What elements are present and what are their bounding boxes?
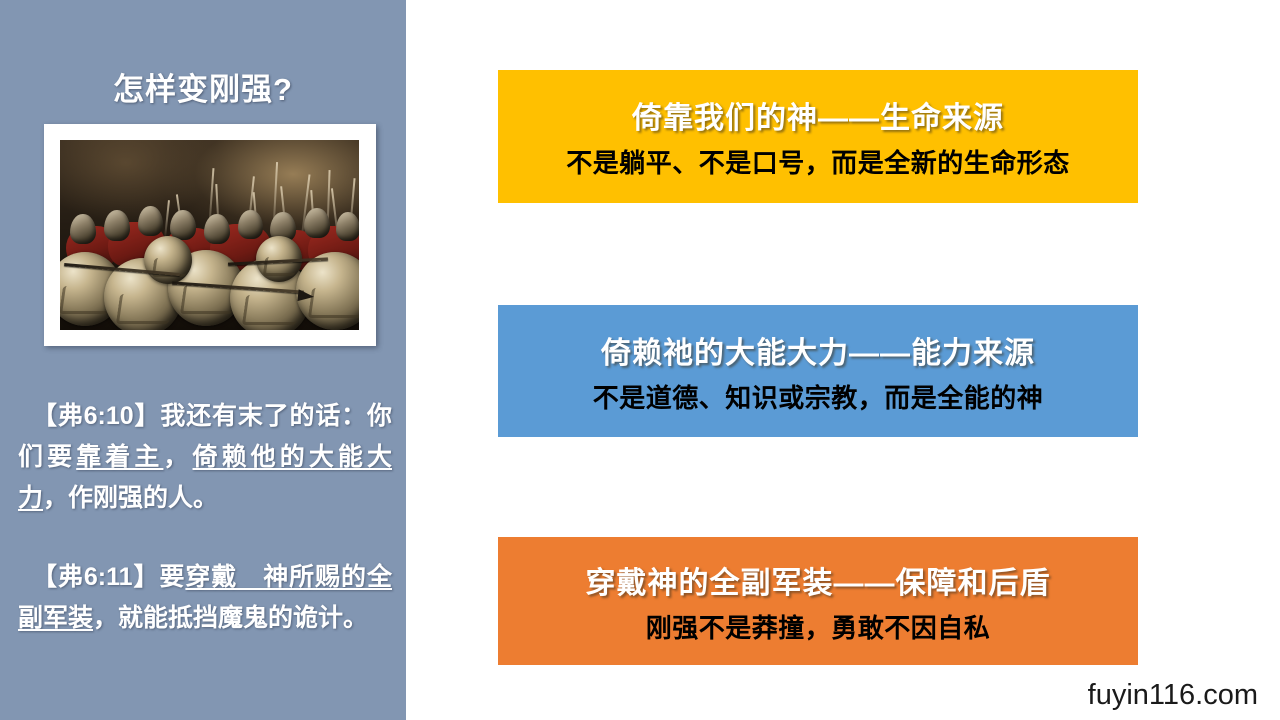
banner-orange-subline: 刚强不是莽撞，勇敢不因自私 bbox=[646, 608, 991, 645]
banner-yellow-subline: 不是躺平、不是口号，而是全新的生命形态 bbox=[566, 143, 1070, 180]
helmet-icon bbox=[104, 210, 130, 241]
scripture-2-part1: 要 bbox=[159, 563, 185, 591]
scripture-eph-6-10: 【弗6:10】我还有末了的话：你们要靠着主，倚赖他的大能大力，作刚强的人。 bbox=[18, 396, 392, 519]
banner-orange-headline: 穿戴神的全副军装——保障和后盾 bbox=[586, 558, 1051, 602]
scripture-eph-6-11: 【弗6:11】要穿戴 神所赐的全副军装，就能抵挡魔鬼的诡计。 bbox=[18, 557, 392, 639]
scripture-1-part3: ，作刚强的人。 bbox=[43, 484, 218, 512]
scripture-1-ref: 【弗6:10】 bbox=[18, 402, 160, 430]
scripture-2-ref: 【弗6:11】 bbox=[18, 563, 159, 591]
helmet-icon bbox=[138, 206, 163, 236]
helmet-icon bbox=[336, 212, 359, 241]
helmet-icon bbox=[170, 210, 196, 240]
banner-life-source: 倚靠我们的神——生命来源 不是躺平、不是口号，而是全新的生命形态 bbox=[498, 70, 1138, 203]
scripture-1-underline1: 靠着主 bbox=[76, 443, 163, 471]
photo-frame bbox=[44, 124, 376, 346]
helmet-icon bbox=[70, 214, 96, 244]
banner-blue-subline: 不是道德、知识或宗教，而是全能的神 bbox=[593, 378, 1044, 415]
helmet-icon bbox=[204, 214, 230, 244]
scripture-1-part2: ， bbox=[163, 443, 192, 471]
sidebar-panel: 怎样变刚强? bbox=[0, 0, 406, 720]
helmet-icon bbox=[238, 210, 263, 239]
banner-yellow-headline: 倚靠我们的神——生命来源 bbox=[632, 93, 1004, 137]
page-title: 怎样变刚强? bbox=[0, 64, 406, 109]
site-watermark: fuyin116.com bbox=[1088, 679, 1258, 712]
helmet-icon bbox=[304, 208, 330, 238]
spartan-phalanx-photo bbox=[60, 140, 359, 330]
scripture-2-part2: ，就能抵挡魔鬼的诡计。 bbox=[93, 604, 368, 632]
lance-tip-icon bbox=[297, 289, 314, 303]
banner-armor-protection: 穿戴神的全副军装——保障和后盾 刚强不是莽撞，勇敢不因自私 bbox=[498, 537, 1138, 665]
shield-icon bbox=[144, 236, 192, 284]
banner-blue-headline: 倚赖祂的大能大力——能力来源 bbox=[601, 328, 1035, 372]
banner-power-source: 倚赖祂的大能大力——能力来源 不是道德、知识或宗教，而是全能的神 bbox=[498, 305, 1138, 437]
